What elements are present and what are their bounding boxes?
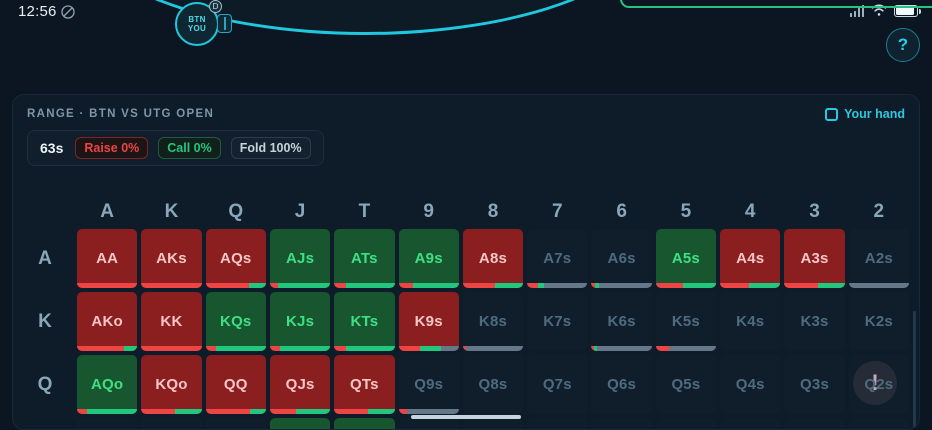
range-cell-K2s[interactable]: K2s (849, 292, 909, 351)
checkbox-icon[interactable] (825, 108, 838, 121)
range-cell-label: A4s (736, 250, 764, 267)
range-cell-label: K8s (479, 313, 507, 330)
range-cell-AQo[interactable]: AQo (77, 355, 137, 414)
range-cell-bar (206, 409, 266, 414)
column-header-8: 8 (463, 199, 523, 225)
help-button[interactable]: ? (886, 28, 920, 62)
bar-segment-sf (466, 346, 523, 351)
range-cell-J9s[interactable]: J9s (399, 418, 459, 429)
column-header-3: 3 (784, 199, 844, 225)
range-cell-A2s[interactable]: A2s (849, 229, 909, 288)
range-cell-label: K9s (415, 313, 443, 330)
column-header-J: J (270, 199, 330, 225)
bar-segment-sc (250, 409, 266, 414)
bar-segment-sr (206, 409, 251, 414)
raise-percent-chip[interactable]: Raise 0% (75, 137, 148, 159)
range-cell-label: QQ (224, 376, 248, 393)
range-cell-bar (784, 283, 844, 288)
range-cell-label: K7s (543, 313, 571, 330)
bar-segment-sr (77, 283, 137, 288)
bar-segment-sr (141, 283, 201, 288)
range-cell-A6s[interactable]: A6s (591, 229, 651, 288)
column-header-9: 9 (399, 199, 459, 225)
range-cell-bar (270, 346, 330, 351)
column-header-A: A (77, 199, 137, 225)
bar-segment-sc (124, 346, 137, 351)
range-cell-Q4s[interactable]: Q4s (720, 355, 780, 414)
range-cell-label: A9s (415, 250, 443, 267)
range-cell-A9s[interactable]: A9s (399, 229, 459, 288)
bar-segment-sr (399, 283, 413, 288)
status-bar-time: 12:56 (18, 3, 57, 20)
range-cell-K4s[interactable]: K4s (720, 292, 780, 351)
row-header-K: K (17, 292, 73, 351)
bar-segment-sr (141, 346, 201, 351)
range-cell-label: Q6s (607, 376, 636, 393)
bar-segment-sf (599, 283, 652, 288)
range-cell-label: A8s (479, 250, 507, 267)
range-cell-K9s[interactable]: K9s (399, 292, 459, 351)
range-cell-J6s[interactable]: J6s (591, 418, 651, 429)
range-cell-bar (206, 283, 266, 288)
range-cell-label: Q5s (671, 376, 700, 393)
bar-segment-sc (420, 346, 441, 351)
range-cell-label: Q4s (736, 376, 765, 393)
fold-percent-chip[interactable]: Fold 100% (231, 137, 311, 159)
range-cell-label: KK (160, 313, 182, 330)
range-cell-label: A2s (865, 250, 893, 267)
range-cell-Q7s[interactable]: Q7s (527, 355, 587, 414)
range-cell-label: AQo (91, 376, 123, 393)
range-cell-bar (77, 346, 137, 351)
range-cell-label: A6s (608, 250, 636, 267)
range-cell-bar (399, 283, 459, 288)
range-cell-KJs[interactable]: KJs (270, 292, 330, 351)
range-cell-KTs[interactable]: KTs (334, 292, 394, 351)
range-cell-bar (720, 283, 780, 288)
hand-summary: 63s Raise 0% Call 0% Fold 100% (27, 130, 324, 166)
dealer-button-icon: D (209, 0, 222, 13)
range-cell-QJo[interactable]: QJo (206, 418, 266, 429)
range-cell-J4s[interactable]: J4s (720, 418, 780, 429)
range-cell-label: QJs (286, 376, 315, 393)
range-cell-bar (591, 283, 651, 288)
range-cell-A7s[interactable]: A7s (527, 229, 587, 288)
bar-segment-sr (141, 409, 175, 414)
range-cell-AJo[interactable]: AJo (77, 418, 137, 429)
bar-segment-sr (334, 409, 368, 414)
call-percent-chip[interactable]: Call 0% (158, 137, 220, 159)
range-cell-Q9s[interactable]: Q9s (399, 355, 459, 414)
column-header-7: 7 (527, 199, 587, 225)
vertical-scrollbar[interactable] (913, 311, 916, 429)
bar-segment-sr (784, 283, 817, 288)
range-cell-label: ATs (351, 250, 378, 267)
range-cell-bar (270, 409, 330, 414)
range-cell-label: AQs (220, 250, 251, 267)
bar-segment-sr (399, 346, 421, 351)
range-cell-K6s[interactable]: K6s (591, 292, 651, 351)
range-cell-bar (334, 346, 394, 351)
range-cell-AQs[interactable]: AQs (206, 229, 266, 288)
range-cell-label: AKo (91, 313, 122, 330)
range-cell-AKo[interactable]: AKo (77, 292, 137, 351)
column-header-4: 4 (720, 199, 780, 225)
range-title: RANGE · BTN VS UTG OPEN (27, 108, 214, 120)
bar-segment-sr (463, 283, 496, 288)
bar-segment-sc (346, 283, 394, 288)
your-hand-label: Your hand (844, 107, 905, 121)
range-cell-ATs[interactable]: ATs (334, 229, 394, 288)
range-cell-AA[interactable]: AA (77, 229, 137, 288)
range-cell-bar (656, 346, 716, 351)
bar-segment-sr (334, 346, 346, 351)
bar-segment-sr (656, 283, 683, 288)
range-cell-bar (399, 346, 459, 351)
bar-segment-sc (346, 346, 394, 351)
range-cell-bar (334, 283, 394, 288)
range-cell-KK[interactable]: KK (141, 292, 201, 351)
bar-segment-sc (818, 283, 845, 288)
column-header-5: 5 (656, 199, 716, 225)
range-cell-label: A5s (672, 250, 700, 267)
range-cell-JTs[interactable]: JTs (334, 418, 394, 429)
bar-segment-sc (749, 283, 780, 288)
range-cell-label: K3s (800, 313, 828, 330)
column-header-6: 6 (591, 199, 651, 225)
table-felt (75, 0, 655, 35)
column-header-Q: Q (206, 199, 266, 225)
mute-icon (60, 4, 76, 20)
range-cell-bar (270, 283, 330, 288)
row-header-J: J (17, 418, 73, 429)
range-cell-bar (77, 283, 137, 288)
range-cell-bar (527, 283, 587, 288)
range-cell-K8s[interactable]: K8s (463, 292, 523, 351)
range-cell-A8s[interactable]: A8s (463, 229, 523, 288)
bar-segment-sc (413, 283, 459, 288)
range-cell-KQs[interactable]: KQs (206, 292, 266, 351)
range-cell-label: Q2s (864, 376, 893, 393)
horizontal-scroll-indicator[interactable] (411, 415, 521, 419)
range-cell-label: AA (96, 250, 118, 267)
range-cell-label: K2s (865, 313, 893, 330)
bar-segment-sr (77, 409, 87, 414)
bar-segment-sr (720, 283, 749, 288)
bar-segment-sc (87, 409, 138, 414)
bar-segment-sf (669, 346, 716, 351)
range-cell-A3s[interactable]: A3s (784, 229, 844, 288)
range-cell-label: Q7s (543, 376, 572, 393)
range-cell-A4s[interactable]: A4s (720, 229, 780, 288)
bar-segment-sf (544, 283, 587, 288)
bar-segment-sc (683, 283, 716, 288)
range-cell-AJs[interactable]: AJs (270, 229, 330, 288)
range-cell-bar (399, 409, 459, 414)
bar-segment-sr (206, 346, 217, 351)
bar-segment-sr (399, 409, 407, 414)
bar-segment-sr (77, 346, 124, 351)
range-cell-Q5s[interactable]: Q5s (656, 355, 716, 414)
opponent-timer-bar (620, 0, 932, 8)
bar-segment-sr (206, 283, 249, 288)
column-header-T: T (334, 199, 394, 225)
range-cell-Q3s[interactable]: Q3s (784, 355, 844, 414)
range-cell-bar (141, 346, 201, 351)
range-cell-J7s[interactable]: J7s (527, 418, 587, 429)
range-cell-J2s[interactable]: J2s (849, 418, 909, 429)
bar-segment-sf (441, 346, 459, 351)
bar-segment-sf (849, 283, 909, 288)
bar-segment-sr (270, 409, 297, 414)
column-header-K: K (141, 199, 201, 225)
range-cell-K3s[interactable]: K3s (784, 292, 844, 351)
bar-segment-sf (597, 346, 651, 351)
app-root: 12:56 BTN YOU D ? RANGE · BTN VS UTG OPE… (0, 0, 932, 430)
range-header: RANGE · BTN VS UTG OPEN Your hand (13, 95, 919, 121)
range-cell-label: KJs (286, 313, 314, 330)
range-cell-J8s[interactable]: J8s (463, 418, 523, 429)
bar-segment-sr (527, 283, 538, 288)
range-cell-KJo[interactable]: KJo (141, 418, 201, 429)
range-cell-label: K4s (736, 313, 764, 330)
range-cell-label: QTs (350, 376, 379, 393)
range-cell-bar (591, 346, 651, 351)
seat-owner-label: YOU (188, 24, 206, 33)
range-cell-K5s[interactable]: K5s (656, 292, 716, 351)
range-cell-label: A7s (543, 250, 571, 267)
range-cell-bar (463, 283, 523, 288)
range-cell-A5s[interactable]: A5s (656, 229, 716, 288)
card-back-icon (217, 14, 232, 33)
range-cell-label: KTs (350, 313, 378, 330)
range-cell-label: K6s (608, 313, 636, 330)
range-cell-JJ[interactable]: JJ (270, 418, 330, 429)
bar-segment-sc (216, 346, 265, 351)
row-header-A: A (17, 229, 73, 288)
range-cell-bar (206, 346, 266, 351)
column-header-2: 2 (849, 199, 909, 225)
range-cell-K7s[interactable]: K7s (527, 292, 587, 351)
range-cell-bar (463, 346, 523, 351)
row-header-Q: Q (17, 355, 73, 414)
bar-segment-sr (334, 283, 346, 288)
bar-segment-sc (278, 283, 330, 288)
range-cell-label: AJs (286, 250, 314, 267)
range-cell-bar (77, 409, 137, 414)
range-cell-label: KQo (155, 376, 187, 393)
range-cell-bar (141, 409, 201, 414)
seat-position-label: BTN (188, 15, 205, 24)
current-hand-label: 63s (40, 140, 63, 156)
range-grid: AKQJT98765432AAAAKsAQsAJsATsA9sA8sA7sA6s… (13, 199, 919, 429)
grid-corner (17, 199, 73, 225)
range-cell-bar (141, 283, 201, 288)
range-cell-bar (849, 283, 909, 288)
range-cell-label: KQs (220, 313, 251, 330)
range-cell-label: Q9s (414, 376, 443, 393)
range-cell-Q6s[interactable]: Q6s (591, 355, 651, 414)
range-cell-QJs[interactable]: QJs (270, 355, 330, 414)
bar-segment-sr (270, 346, 280, 351)
range-cell-label: K5s (672, 313, 700, 330)
range-cell-KQo[interactable]: KQo (141, 355, 201, 414)
range-cell-label: Q8s (479, 376, 508, 393)
bar-segment-sc (296, 409, 330, 414)
range-cell-Q8s[interactable]: Q8s (463, 355, 523, 414)
poker-table-area: 12:56 BTN YOU D ? (0, 0, 932, 88)
bar-segment-sc (249, 283, 266, 288)
range-cell-J3s[interactable]: J3s (784, 418, 844, 429)
range-cell-bar (334, 409, 394, 414)
bar-segment-sc (175, 409, 202, 414)
range-cell-label: AKs (156, 250, 187, 267)
range-panel: RANGE · BTN VS UTG OPEN Your hand 63s Ra… (12, 94, 920, 430)
range-cell-label: A3s (800, 250, 828, 267)
bar-segment-sr (656, 346, 669, 351)
range-cell-J5s[interactable]: J5s (656, 418, 716, 429)
range-cell-QQ[interactable]: QQ (206, 355, 266, 414)
bar-segment-sc (368, 409, 395, 414)
range-cell-AKs[interactable]: AKs (141, 229, 201, 288)
legend-row: 63s Raise 0% Call 0% Fold 100% (13, 121, 919, 166)
bar-segment-sc (495, 283, 523, 288)
range-cell-bar (656, 283, 716, 288)
bar-segment-sf (407, 409, 459, 414)
bar-segment-sc (280, 346, 331, 351)
range-cell-QTs[interactable]: QTs (334, 355, 394, 414)
bar-segment-sr (270, 283, 278, 288)
range-grid-scroll[interactable]: AKQJT98765432AAAAKsAQsAJsATsA9sA8sA7sA6s… (13, 199, 919, 429)
your-hand-toggle[interactable]: Your hand (825, 107, 905, 121)
range-cell-label: Q3s (800, 376, 829, 393)
